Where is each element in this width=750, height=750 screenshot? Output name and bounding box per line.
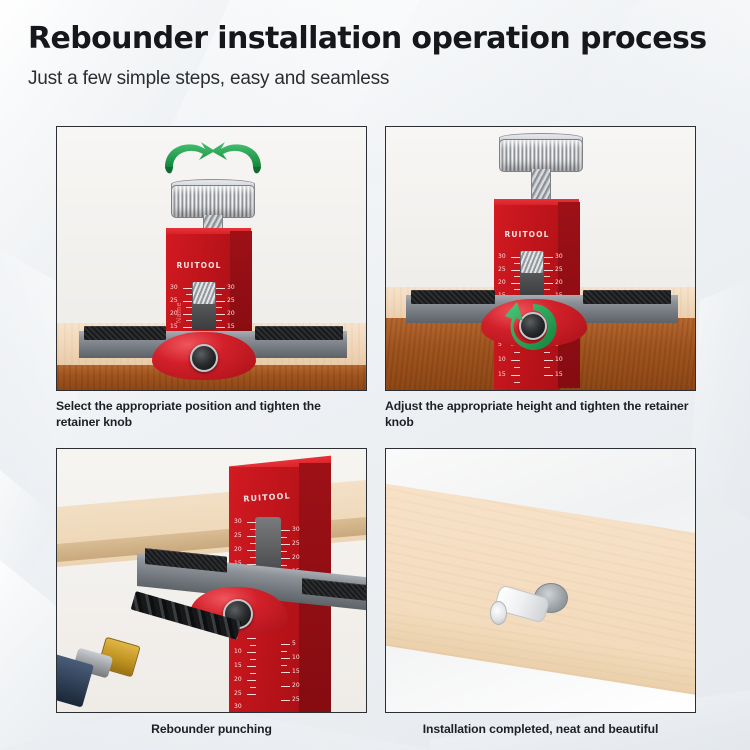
step-cell-4: Installation completed, neat and beautif… — [385, 448, 696, 738]
steps-row-2: RUITOOL 30 25 20 15 10 — [56, 448, 696, 738]
retainer-knob[interactable] — [190, 344, 218, 372]
page-title: Rebounder installation operation process — [28, 22, 728, 55]
steps-row-1: RUITOOL 30 25 20 15 — [56, 126, 696, 430]
steps-grid: RUITOOL 30 25 20 15 — [56, 126, 696, 738]
grip-pad-right — [583, 290, 671, 304]
step-cell-3: RUITOOL 30 25 20 15 10 — [56, 448, 367, 738]
step-4-image-panel — [385, 448, 696, 713]
knurled-knob — [171, 185, 255, 218]
finished-install-scene — [386, 449, 695, 712]
step-cell-2: RUITOOL 30 25 20 15 — [385, 126, 696, 430]
knurled-knob[interactable] — [499, 139, 583, 172]
jig-height-scene: RUITOOL 30 25 20 15 — [386, 127, 695, 390]
grip-pad-left — [84, 326, 166, 340]
step-2-caption: Adjust the appropriate height and tighte… — [385, 391, 696, 430]
grip-pad-right — [255, 326, 343, 340]
jig-position-scene: RUITOOL 30 25 20 15 — [57, 127, 366, 390]
drilling-scene: RUITOOL 30 25 20 15 10 — [57, 449, 366, 712]
scale-right-lower-3: 5 10 15 20 25 — [281, 641, 307, 713]
scale-left-lower-3: 5 10 15 20 25 30 — [234, 635, 256, 711]
step-2-image-panel: RUITOOL 30 25 20 15 — [385, 126, 696, 391]
page-header: Rebounder installation operation process… — [28, 22, 728, 90]
rotate-circle-arrow-icon — [503, 298, 563, 356]
grip-pad-left — [411, 290, 495, 304]
vertical-name-label: Name — [176, 302, 183, 323]
step-3-image-panel: RUITOOL 30 25 20 15 10 — [56, 448, 367, 713]
step-cell-1: RUITOOL 30 25 20 15 — [56, 126, 367, 430]
page-subtitle: Just a few simple steps, easy and seamle… — [28, 68, 728, 90]
step-1-image-panel: RUITOOL 30 25 20 15 — [56, 126, 367, 391]
step-3-caption: Rebounder punching — [56, 713, 367, 738]
rotate-arrows-icon — [157, 133, 269, 185]
brand-label-2: RUITOOL — [494, 230, 560, 239]
step-4-caption: Installation completed, neat and beautif… — [385, 713, 696, 738]
step-1-caption: Select the appropriate position and tigh… — [56, 391, 367, 430]
brand-label-1: RUITOOL — [166, 261, 232, 270]
